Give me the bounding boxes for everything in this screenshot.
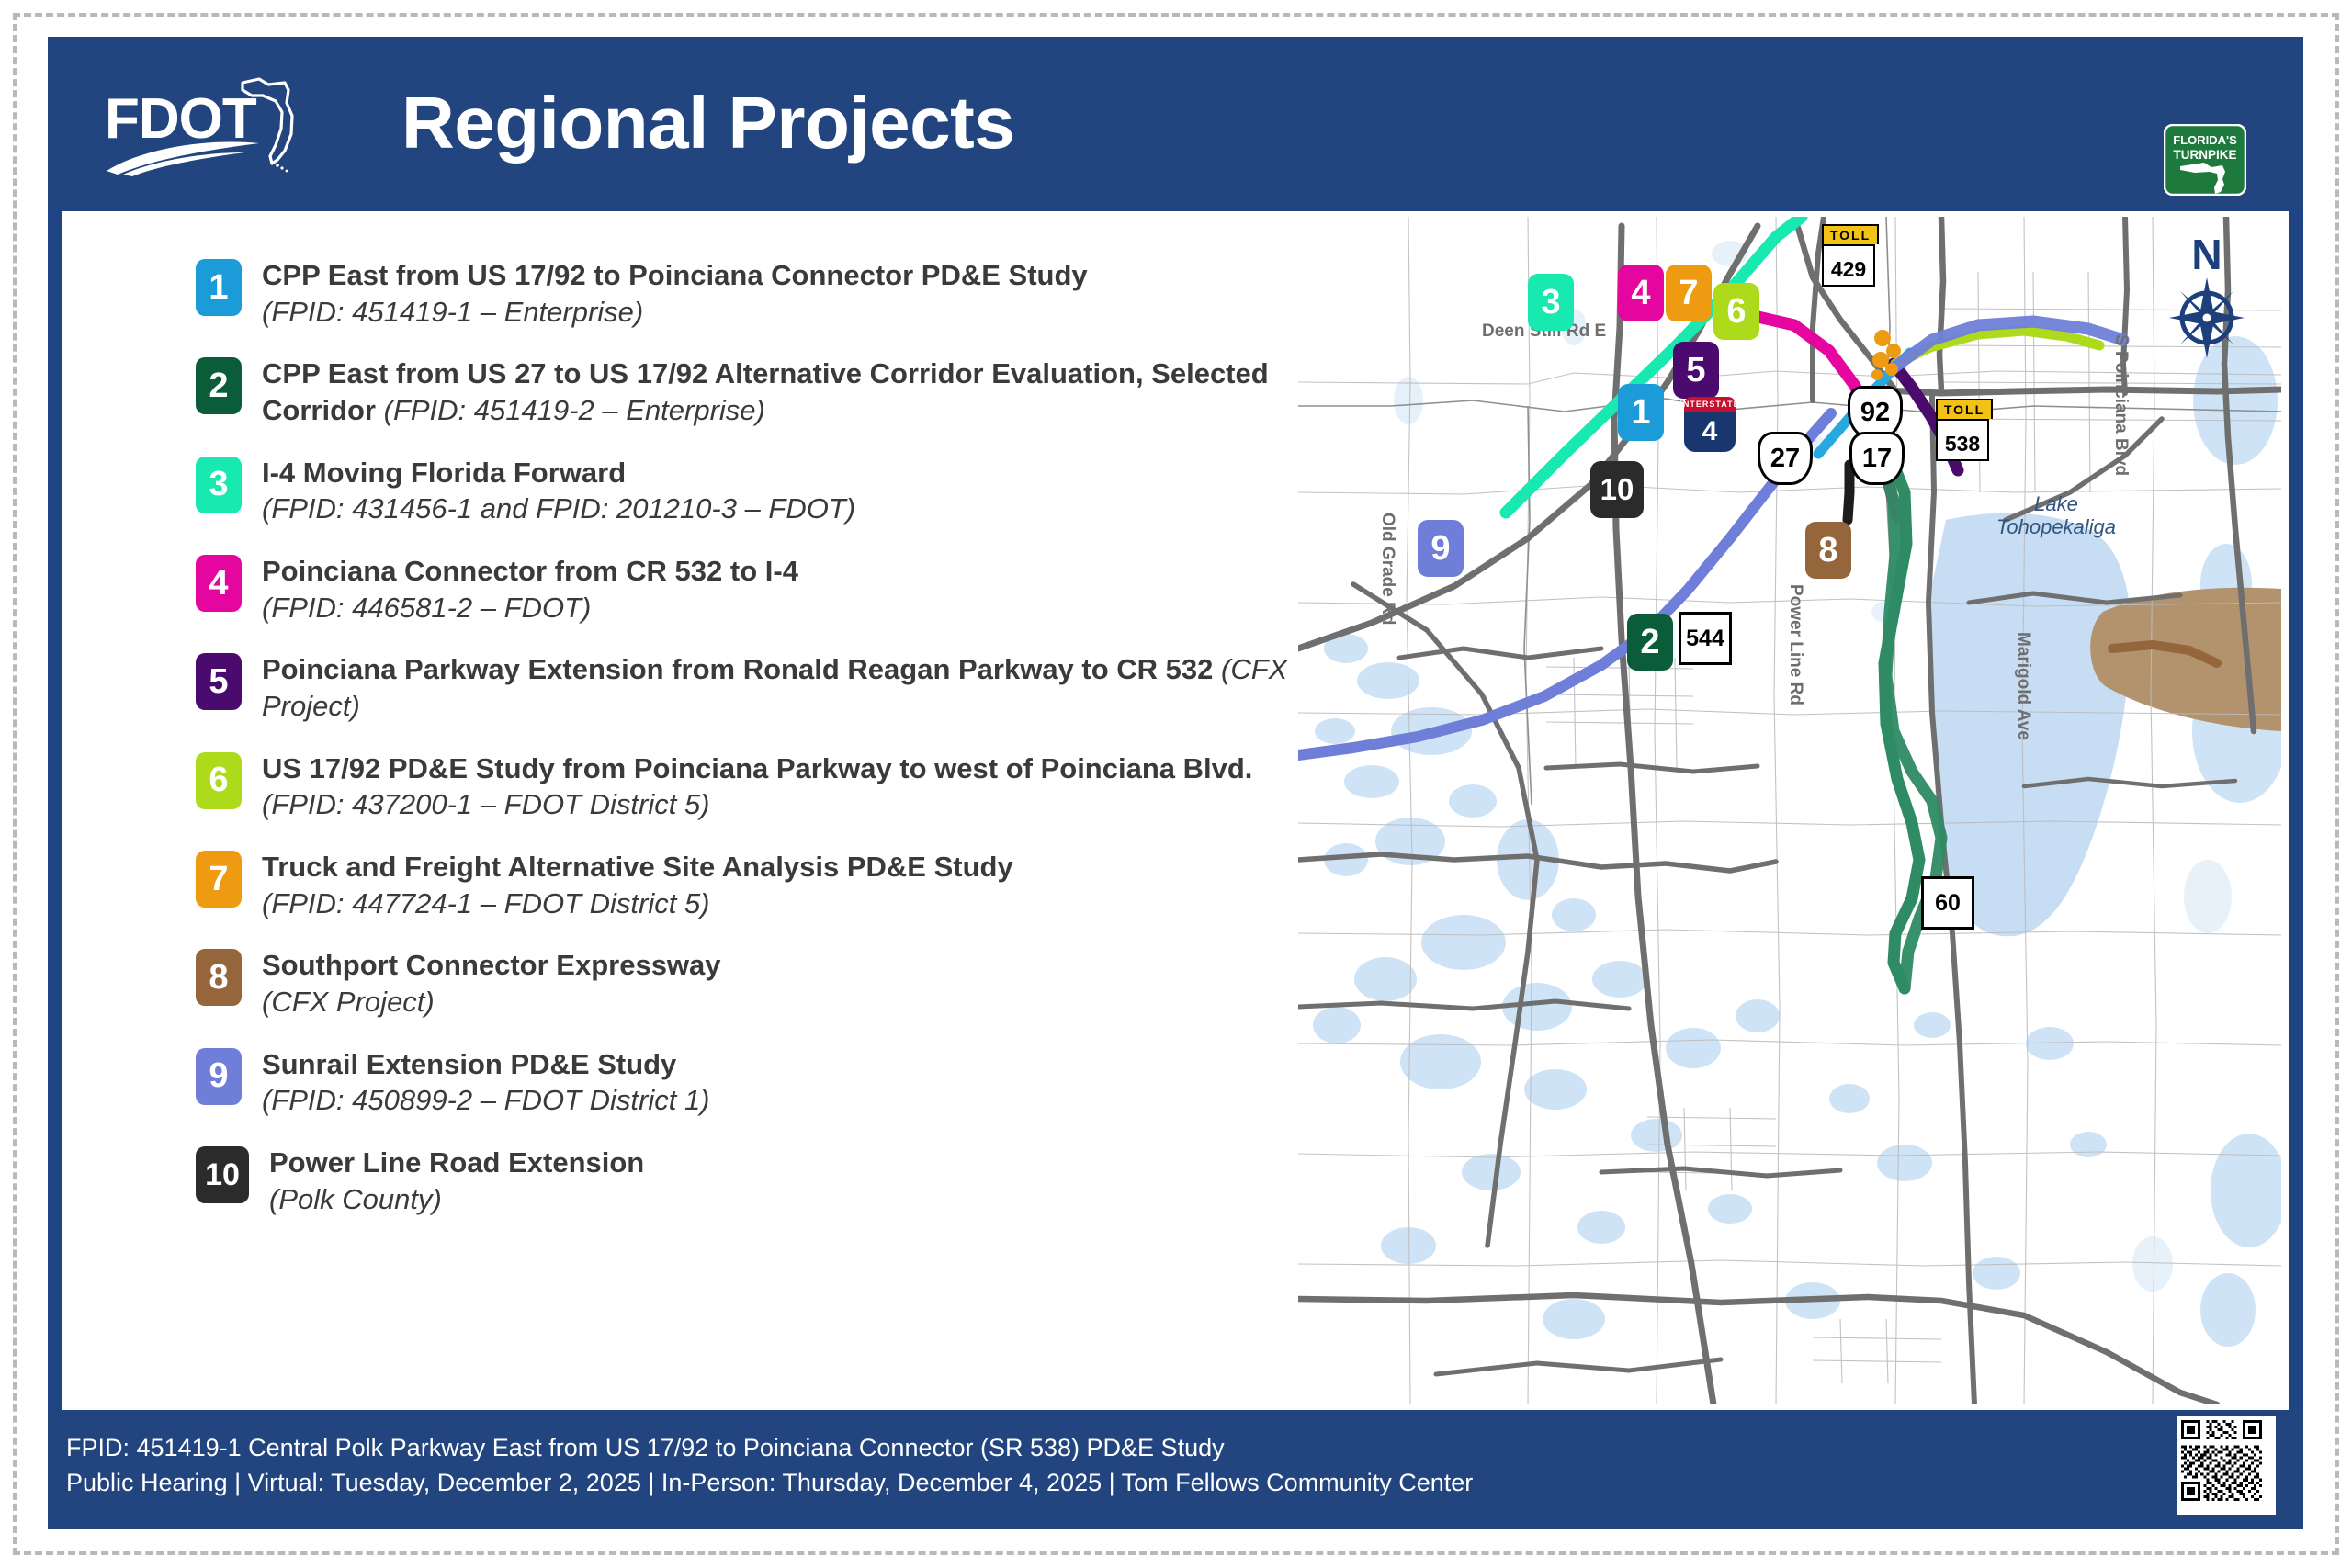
shield-number-us27: 27 <box>1758 432 1813 485</box>
legend-text-1: CPP East from US 17/92 to Poinciana Conn… <box>262 255 1088 330</box>
legend-item-4[interactable]: 4 Poinciana Connector from CR 532 to I-4… <box>196 551 1335 626</box>
page-title: Regional Projects <box>401 81 1014 165</box>
legend-text-7: Truck and Freight Alternative Site Analy… <box>262 847 1013 921</box>
legend-chip-4: 4 <box>196 555 242 612</box>
compass-icon <box>2167 276 2246 360</box>
legend-sub-2: (FPID: 451419-2 – Enterprise) <box>384 394 765 426</box>
legend-item-6[interactable]: 6 US 17/92 PD&E Study from Poinciana Par… <box>196 749 1335 823</box>
legend-item-2[interactable]: 2 CPP East from US 27 to US 17/92 Altern… <box>196 354 1335 428</box>
legend-chip-8: 8 <box>196 949 242 1006</box>
map-label-old-grade-rd: Old Grade Rd <box>1377 513 1397 625</box>
legend-title-4: Poinciana Connector from CR 532 to I-4 <box>262 555 798 587</box>
fdot-logo: FDOT <box>105 75 353 176</box>
svg-text:TURNPIKE: TURNPIKE <box>2173 148 2236 162</box>
florida-turnpike-logo: FLORIDA'S TURNPIKE <box>2164 124 2246 196</box>
map-label-power-line-rd: Power Line Rd <box>1785 584 1805 705</box>
legend-text-2: CPP East from US 27 to US 17/92 Alternat… <box>262 354 1335 428</box>
legend-title-1: CPP East from US 17/92 to Poinciana Conn… <box>262 259 1088 291</box>
map-label-marigold-ave: Marigold Ave <box>2013 632 2033 740</box>
legend-chip-10: 10 <box>196 1146 249 1203</box>
shield-us-17: 17 <box>1849 432 1905 485</box>
legend-sub-9: (FPID: 450899-2 – FDOT District 1) <box>262 1084 710 1116</box>
interstate-banner: INTERSTATE <box>1684 397 1736 412</box>
legend-title-7: Truck and Freight Alternative Site Analy… <box>262 851 1013 883</box>
map-basemap <box>1298 217 2281 1404</box>
map-pin-6[interactable]: 6 <box>1713 283 1759 340</box>
map-pin-2[interactable]: 2 <box>1627 614 1673 671</box>
legend-item-1[interactable]: 1 CPP East from US 17/92 to Poinciana Co… <box>196 255 1335 330</box>
legend-item-5[interactable]: 5 Poinciana Parkway Extension from Ronal… <box>196 649 1335 724</box>
legend-text-5: Poinciana Parkway Extension from Ronald … <box>262 649 1335 724</box>
poster-header: FDOT Regional Projects FLORIDA'S TURNPIK… <box>48 37 2303 207</box>
project-legend: 1 CPP East from US 17/92 to Poinciana Co… <box>196 255 1335 1241</box>
legend-text-4: Poinciana Connector from CR 532 to I-4 (… <box>262 551 798 626</box>
shield-number-538: 538 <box>1936 419 1989 461</box>
poster-body: 1 CPP East from US 17/92 to Poinciana Co… <box>62 211 2289 1410</box>
toll-cap-429: TOLL <box>1822 224 1879 244</box>
shield-toll-538: TOLL 538 <box>1936 399 1993 461</box>
legend-title-9: Sunrail Extension PD&E Study <box>262 1048 676 1080</box>
legend-title-8: Southport Connector Expressway <box>262 949 721 981</box>
shield-number-us17: 17 <box>1849 432 1905 485</box>
shield-interstate-4: INTERSTATE 4 <box>1684 397 1736 452</box>
legend-sub-7: (FPID: 447724-1 – FDOT District 5) <box>262 887 710 919</box>
legend-sub-8: (CFX Project) <box>262 986 435 1018</box>
lake-label-line1: Lake <box>1978 492 2134 515</box>
legend-text-9: Sunrail Extension PD&E Study (FPID: 4508… <box>262 1044 710 1119</box>
shield-number-429: 429 <box>1822 244 1875 287</box>
shield-fl-60: 60 <box>1921 876 1974 930</box>
map-pin-4[interactable]: 4 <box>1618 265 1664 321</box>
legend-item-10[interactable]: 10 Power Line Road Extension (Polk Count… <box>196 1143 1335 1217</box>
legend-item-9[interactable]: 9 Sunrail Extension PD&E Study (FPID: 45… <box>196 1044 1335 1119</box>
legend-title-5: Poinciana Parkway Extension from Ronald … <box>262 653 1221 685</box>
map-pin-9[interactable]: 9 <box>1418 520 1464 577</box>
map-label-lake-tohopekaliga: Lake Tohopekaliga <box>1978 492 2134 539</box>
legend-title-10: Power Line Road Extension <box>269 1146 644 1179</box>
map-pin-10[interactable]: 10 <box>1590 461 1644 518</box>
shield-us-27: 27 <box>1758 432 1813 485</box>
legend-chip-1: 1 <box>196 259 242 316</box>
legend-item-8[interactable]: 8 Southport Connector Expressway (CFX Pr… <box>196 945 1335 1020</box>
shield-number-i4: 4 <box>1684 412 1736 452</box>
legend-sub-3: (FPID: 431456-1 and FPID: 201210-3 – FDO… <box>262 492 855 525</box>
map-pin-7[interactable]: 7 <box>1666 265 1712 321</box>
compass-rose: N <box>2167 233 2246 362</box>
legend-chip-3: 3 <box>196 457 242 513</box>
svg-text:FLORIDA'S: FLORIDA'S <box>2173 133 2237 147</box>
map-pin-5[interactable]: 5 <box>1673 342 1719 399</box>
map-label-s-poinciana-blvd: S Poinciana Blvd <box>2110 334 2131 476</box>
legend-sub-4: (FPID: 446581-2 – FDOT) <box>262 592 591 624</box>
toll-cap-538: TOLL <box>1936 399 1993 419</box>
legend-text-6: US 17/92 PD&E Study from Poinciana Parkw… <box>262 749 1335 823</box>
shield-number-60: 60 <box>1921 876 1974 930</box>
legend-text-8: Southport Connector Expressway (CFX Proj… <box>262 945 721 1020</box>
legend-title-6: US 17/92 PD&E Study from Poinciana Parkw… <box>262 752 1252 784</box>
map-pin-1[interactable]: 1 <box>1618 384 1664 441</box>
legend-text-3: I-4 Moving Florida Forward (FPID: 431456… <box>262 453 855 527</box>
footer-text-block: FPID: 451419-1 Central Polk Parkway East… <box>66 1430 1473 1501</box>
svg-text:FDOT: FDOT <box>105 87 257 151</box>
poster-panel: FDOT Regional Projects FLORIDA'S TURNPIK… <box>48 37 2303 1529</box>
legend-text-10: Power Line Road Extension (Polk County) <box>269 1143 644 1217</box>
regional-projects-map[interactable]: Deen Still Rd E Old Grade Rd Power Line … <box>1298 217 2281 1404</box>
legend-sub-1: (FPID: 451419-1 – Enterprise) <box>262 296 643 328</box>
compass-north-label: N <box>2167 233 2246 276</box>
poster-page: FDOT Regional Projects FLORIDA'S TURNPIK… <box>0 0 2352 1568</box>
qr-code[interactable] <box>2177 1416 2276 1515</box>
poster-footer: FPID: 451419-1 Central Polk Parkway East… <box>48 1410 2303 1529</box>
legend-chip-2: 2 <box>196 357 242 414</box>
footer-line-2: Public Hearing | Virtual: Tuesday, Decem… <box>66 1465 1473 1500</box>
legend-chip-9: 9 <box>196 1048 242 1105</box>
legend-item-3[interactable]: 3 I-4 Moving Florida Forward (FPID: 4314… <box>196 453 1335 527</box>
map-pin-8[interactable]: 8 <box>1805 522 1851 579</box>
footer-line-1: FPID: 451419-1 Central Polk Parkway East… <box>66 1430 1473 1465</box>
legend-item-7[interactable]: 7 Truck and Freight Alternative Site Ana… <box>196 847 1335 921</box>
legend-sub-10: (Polk County) <box>269 1183 442 1215</box>
legend-sub-6: (FPID: 437200-1 – FDOT District 5) <box>262 788 710 820</box>
legend-chip-6: 6 <box>196 752 242 809</box>
shield-fl-544: 544 <box>1679 612 1732 665</box>
shield-number-544: 544 <box>1679 612 1732 665</box>
map-pin-3[interactable]: 3 <box>1528 274 1574 331</box>
legend-title-3: I-4 Moving Florida Forward <box>262 457 626 489</box>
legend-chip-5: 5 <box>196 653 242 710</box>
shield-toll-429: TOLL 429 <box>1822 224 1879 287</box>
lake-label-line2: Tohopekaliga <box>1978 515 2134 538</box>
legend-chip-7: 7 <box>196 851 242 908</box>
